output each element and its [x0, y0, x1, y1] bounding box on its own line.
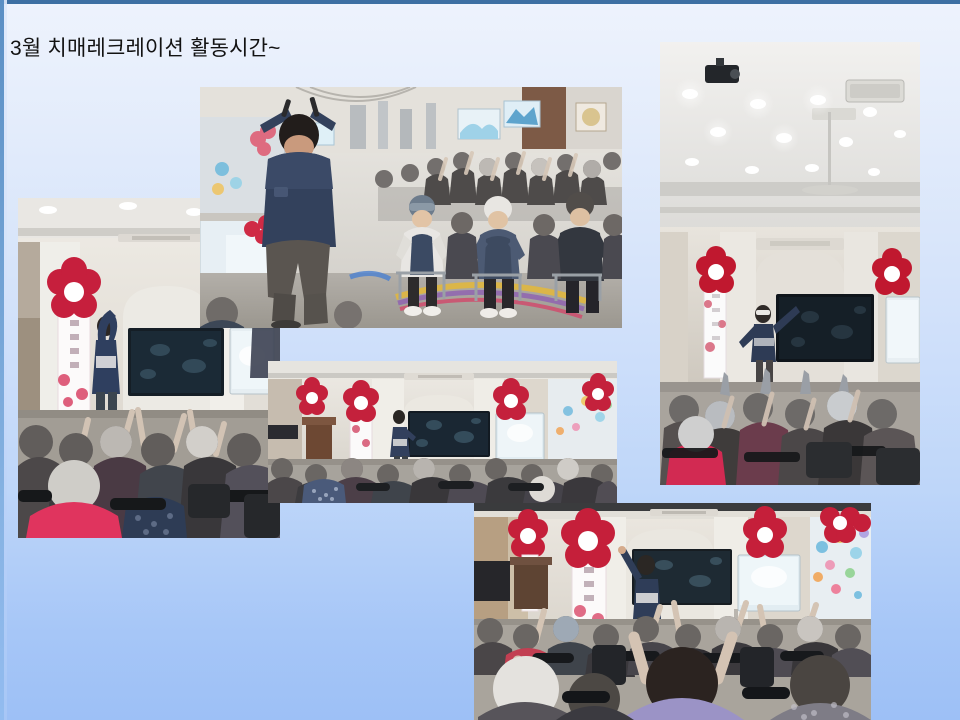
slide-title: 3월 치매레크레이션 활동시간~ — [10, 35, 281, 63]
photo-top-artwork — [200, 87, 622, 328]
photo-wide-hall-ceiling-view — [660, 42, 920, 485]
audience-mid-rows — [396, 192, 622, 318]
presentation-slide: 3월 치매레크레이션 활동시간~ — [0, 0, 960, 720]
photo-audience-back-view-presentation — [268, 361, 617, 503]
photo-mid-artwork — [268, 361, 617, 503]
photo-bottom-artwork — [474, 503, 871, 720]
photo-right-artwork — [660, 42, 920, 485]
photo-participants-hands-raised — [474, 503, 871, 720]
slide-top-border — [0, 0, 960, 4]
photo-instructor-leading-seated-exercise — [200, 87, 622, 328]
slide-left-border-inner — [4, 0, 7, 720]
